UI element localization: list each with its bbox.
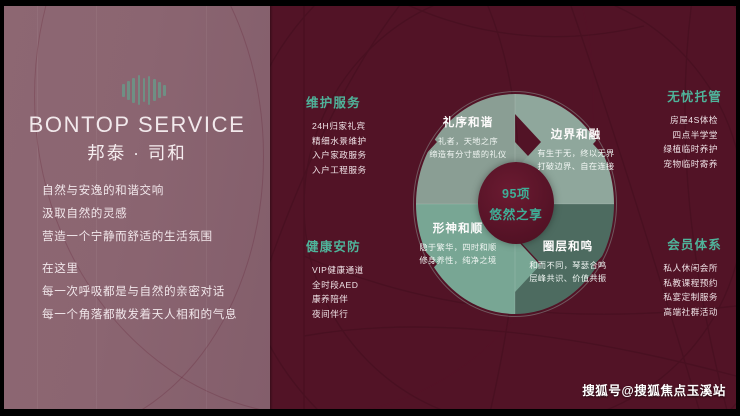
- copy-line: 在这里: [42, 257, 266, 280]
- service-item: 高端社群活动: [663, 305, 722, 320]
- service-item: 私人休闲会所: [663, 261, 722, 276]
- letterbox-top: [0, 0, 740, 6]
- core-label: 悠然之享: [489, 204, 542, 223]
- copy-line: 营造一个宁静而舒适的生活氛围: [42, 225, 266, 248]
- service-item: 夜间伴行: [306, 307, 364, 322]
- letterbox-left: [0, 0, 4, 416]
- service-item: 宠物临时寄养: [663, 157, 722, 172]
- copy-spacer: [42, 248, 266, 257]
- copy-line: 自然与安逸的和谐交响: [42, 179, 266, 202]
- service-item: 24H归家礼宾: [306, 119, 367, 134]
- service-item: 康养陪伴: [306, 292, 364, 307]
- service-group-title: 健康安防: [306, 236, 364, 255]
- service-item: 私教课程预约: [663, 276, 722, 291]
- service-item: 入户家政服务: [306, 148, 367, 163]
- circular-pinwheel-diagram: 95项 悠然之享: [411, 82, 619, 325]
- copy-line: 每一次呼吸都是与自然的亲密对话: [42, 280, 266, 303]
- service-group-worry-free-trusteeship: 无忧托管 房屋4S体检 四点半学堂 绿植临时养护 宠物临时寄养: [663, 86, 722, 171]
- brand-block: BONTOP SERVICE 邦泰 · 司和: [4, 113, 270, 165]
- letterbox-bottom: [0, 409, 740, 416]
- service-group-membership-system: 会员体系 私人休闲会所 私教课程预约 私宴定制服务 高端社群活动: [663, 234, 722, 319]
- service-item: 房屋4S体检: [663, 113, 722, 128]
- slide-content: BONTOP SERVICE 邦泰 · 司和 自然与安逸的和谐交响 汲取自然的灵…: [4, 6, 736, 409]
- brand-english-title: BONTOP SERVICE: [4, 113, 270, 136]
- service-item: 入户工程服务: [306, 163, 367, 178]
- service-group-health-security: 健康安防 VIP健康通道 全时段AED 康养陪伴 夜间伴行: [306, 236, 364, 321]
- letterbox-right: [736, 0, 740, 416]
- service-item: VIP健康通道: [306, 263, 364, 278]
- service-group-maintenance: 维护服务 24H归家礼宾 精细水景维护 入户家政服务 入户工程服务: [306, 92, 367, 177]
- service-item: 精细水景维护: [306, 134, 367, 149]
- service-item: 绿植临时养护: [663, 142, 722, 157]
- copy-line: 每一个角落都散发着天人相和的气息: [42, 303, 266, 326]
- brand-chinese-title: 邦泰 · 司和: [4, 140, 270, 165]
- service-group-title: 会员体系: [663, 234, 722, 253]
- diagram-core-circle: 95项 悠然之享: [478, 162, 554, 244]
- source-watermark: 搜狐号@搜狐焦点玉溪站: [582, 380, 726, 399]
- left-description-copy: 自然与安逸的和谐交响 汲取自然的灵感 营造一个宁静而舒适的生活氛围 在这里 每一…: [42, 179, 266, 326]
- panel-edge-shadow: [270, 6, 273, 409]
- service-item: 四点半学堂: [663, 128, 722, 143]
- copy-line: 汲取自然的灵感: [42, 202, 266, 225]
- vertical-bars-ornament-icon: [122, 74, 166, 106]
- service-group-title: 维护服务: [306, 92, 367, 111]
- service-group-title: 无忧托管: [663, 86, 722, 105]
- service-item: 私宴定制服务: [663, 290, 722, 305]
- core-count: 95项: [502, 183, 530, 202]
- service-item: 全时段AED: [306, 278, 364, 293]
- slide-canvas: BONTOP SERVICE 邦泰 · 司和 自然与安逸的和谐交响 汲取自然的灵…: [0, 0, 740, 416]
